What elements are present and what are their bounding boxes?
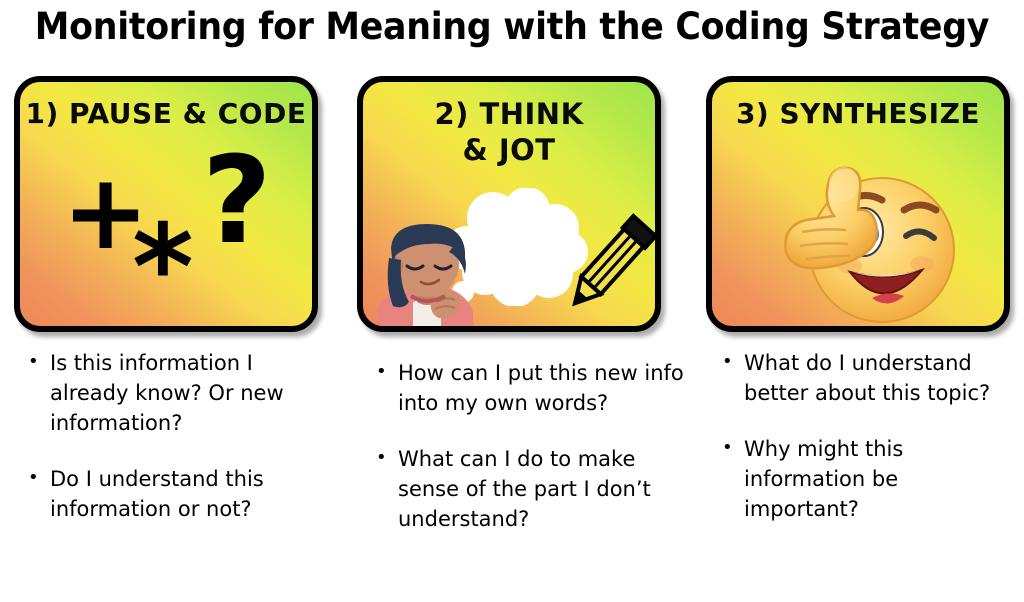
question-columns: Is this information I already know? Or n… <box>0 348 1024 602</box>
thumbs-up-winking-emoji-icon <box>772 140 958 330</box>
column-think-and-jot-questions: How can I put this new info into my own … <box>372 358 692 560</box>
bullet-text: Do I understand this information or not? <box>50 464 334 524</box>
column-synthesize-questions: What do I understand better about this t… <box>718 348 1018 550</box>
list-item: What do I understand better about this t… <box>718 348 1018 408</box>
list-item: How can I put this new info into my own … <box>372 358 692 418</box>
pencil-icon <box>559 210 659 318</box>
card-title-pause-and-code: 1) PAUSE & CODE <box>20 96 312 132</box>
asterisk-symbol-icon: * <box>132 208 194 326</box>
bullet-text: What do I understand better about this t… <box>744 348 1018 408</box>
bullet-text: What can I do to make sense of the part … <box>398 444 692 534</box>
list-item: Why might this information be important? <box>718 434 1018 524</box>
card-title-line-2: & JOT <box>363 132 655 168</box>
card-title-think-and-jot: 2) THINK & JOT <box>363 96 655 168</box>
girl-thinking-illustration <box>369 222 487 326</box>
list-item: Is this information I already know? Or n… <box>24 348 334 438</box>
list-item: What can I do to make sense of the part … <box>372 444 692 534</box>
bullet-text: How can I put this new info into my own … <box>398 358 692 418</box>
cards-row: 1) PAUSE & CODE + * ? 2) THINK & JOT <box>0 76 1024 338</box>
plus-symbol-icon: + <box>62 160 149 264</box>
card-title-line-1: 2) THINK <box>363 96 655 132</box>
list-item: Do I understand this information or not? <box>24 464 334 524</box>
infographic-page: Monitoring for Meaning with the Coding S… <box>0 0 1024 602</box>
card-pause-and-code: 1) PAUSE & CODE + * ? <box>14 76 318 332</box>
bullet-text: Is this information I already know? Or n… <box>50 348 334 438</box>
bullet-text: Why might this information be important? <box>744 434 1018 524</box>
card-think-and-jot: 2) THINK & JOT <box>357 76 661 332</box>
card-title-synthesize: 3) SYNTHESIZE <box>712 96 1004 132</box>
page-title: Monitoring for Meaning with the Coding S… <box>31 4 994 50</box>
column-pause-and-code-questions: Is this information I already know? Or n… <box>24 348 334 550</box>
card-synthesize: 3) SYNTHESIZE <box>706 76 1010 332</box>
thought-bubble-icon <box>441 188 591 306</box>
question-mark-symbol-icon: ? <box>202 142 272 262</box>
